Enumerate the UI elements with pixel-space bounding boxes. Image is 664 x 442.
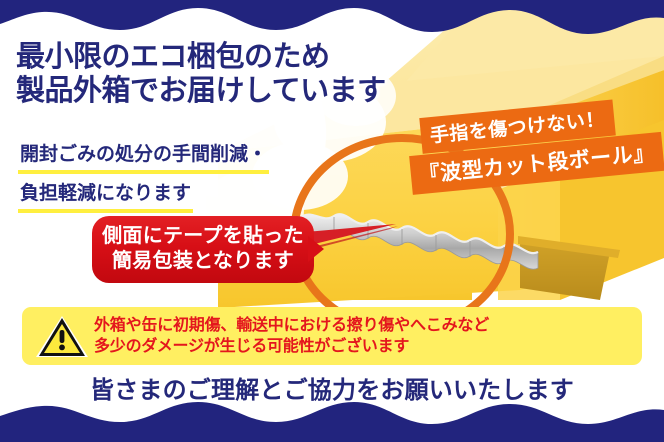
- warning-line-2: 多少のダメージが生じる可能性がございます: [94, 336, 489, 357]
- subheading-row-2: 負担軽減になります: [18, 179, 269, 213]
- headline-line-2: 製品外箱でお届けしています: [16, 74, 386, 108]
- warning-line-1: 外箱や缶に初期傷、輸送中における擦り傷やへこみなど: [94, 315, 489, 336]
- red-callout-box: 側面にテープを貼った 簡易包装となります: [92, 216, 314, 283]
- warning-panel: 外箱や缶に初期傷、輸送中における擦り傷やへこみなど 多少のダメージが生じる可能性…: [22, 307, 642, 365]
- packaging-notice-banner: 最小限のエコ梱包のため 製品外箱でお届けしています 開封ごみの処分の手間削減・ …: [0, 0, 664, 442]
- page-title: 最小限のエコ梱包のため 製品外箱でお届けしています: [16, 40, 386, 108]
- callout-tail-icon: [308, 236, 324, 262]
- subheading: 開封ごみの処分の手間削減・ 負担軽減になります: [18, 140, 269, 218]
- warning-triangle-icon: [34, 313, 90, 359]
- closing-message: 皆さまのご理解とご協力をお願いいたします: [0, 370, 664, 405]
- warning-text: 外箱や缶に初期傷、輸送中における擦り傷やへこみなど 多少のダメージが生じる可能性…: [94, 315, 489, 357]
- subheading-line-1: 開封ごみの処分の手間削減・: [18, 140, 269, 174]
- subheading-line-2: 負担軽減になります: [18, 179, 193, 213]
- callout-line-1: 側面にテープを貼った: [98, 224, 308, 249]
- headline-line-1: 最小限のエコ梱包のため: [16, 40, 386, 74]
- callout-line-2: 簡易包装となります: [98, 249, 308, 274]
- closing-text: 皆さまのご理解とご協力をお願いいたします: [90, 377, 574, 404]
- subheading-row-1: 開封ごみの処分の手間削減・: [18, 140, 269, 174]
